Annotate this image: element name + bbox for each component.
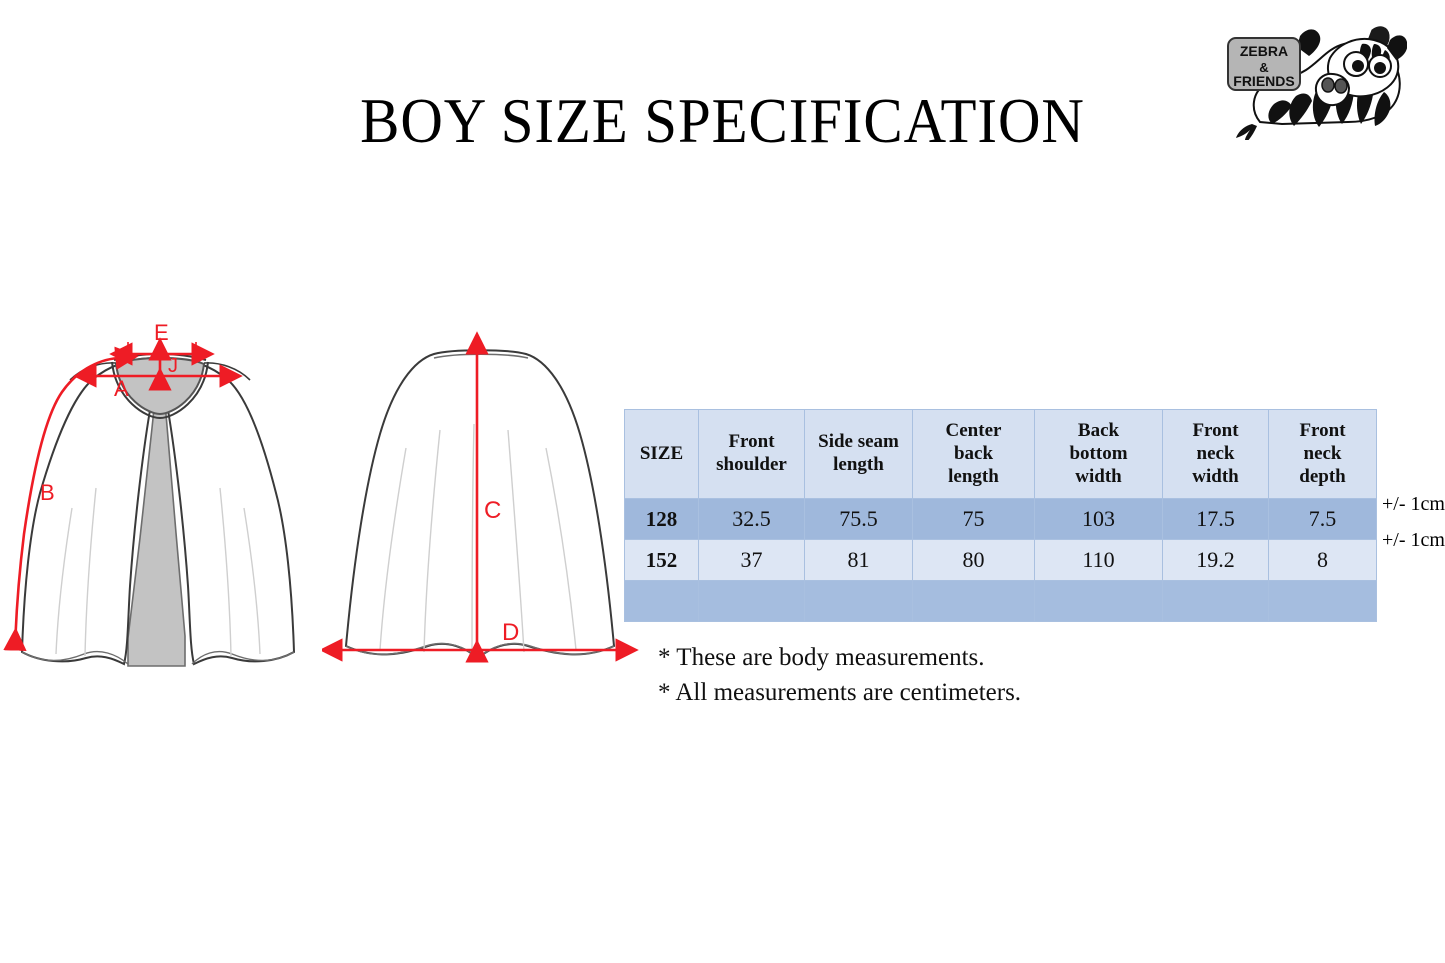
tolerance-label-128: +/- 1cm: [1382, 493, 1445, 516]
size-specification-table: SIZE Front shoulder Side seam length Cen…: [624, 409, 1376, 622]
cell-front-shoulder: 32.5: [699, 499, 805, 540]
dimension-label-E: E: [154, 320, 169, 345]
size-table: SIZE Front shoulder Side seam length Cen…: [624, 409, 1377, 622]
zebra-logo-artwork: ZEBRA & FRIENDS: [1222, 12, 1407, 140]
cell-front-neck-depth: 8: [1269, 540, 1377, 581]
zebra-and-friends-logo: ZEBRA & FRIENDS: [1222, 12, 1407, 140]
front-shoulder-line2: shoulder: [716, 454, 787, 475]
column-header-center-back-length: Center back length: [913, 410, 1035, 499]
dimension-label-J: J: [168, 355, 178, 377]
center-back-line2: back: [954, 443, 993, 464]
column-header-front-neck-depth: Front neck depth: [1269, 410, 1377, 499]
cell-front-neck-depth: [1269, 581, 1377, 622]
column-header-front-shoulder: Front shoulder: [699, 410, 805, 499]
note-line-2: * All measurements are centimeters.: [658, 675, 1021, 710]
cape-back-artwork: C D: [322, 328, 642, 678]
cell-back-bottom-width: 110: [1035, 540, 1163, 581]
column-header-front-neck-width: Front neck width: [1163, 410, 1269, 499]
cell-front-neck-width: [1163, 581, 1269, 622]
cell-back-bottom-width: 103: [1035, 499, 1163, 540]
back-bottom-line1: Back: [1078, 420, 1119, 441]
front-neck-width-line1: Front: [1192, 420, 1238, 441]
center-back-line3: length: [948, 466, 999, 487]
logo-plaque-line3: FRIENDS: [1233, 73, 1294, 89]
cell-size: 128: [625, 499, 699, 540]
cell-side-seam-length: 81: [805, 540, 913, 581]
front-neck-depth-line2: neck: [1304, 443, 1342, 464]
side-seam-line1: Side seam: [818, 431, 899, 452]
cell-front-neck-width: 17.5: [1163, 499, 1269, 540]
cape-back-view: C D: [322, 328, 642, 678]
cell-front-neck-width: 19.2: [1163, 540, 1269, 581]
cell-center-back-length: [913, 581, 1035, 622]
back-bottom-line3: width: [1075, 466, 1121, 487]
center-back-line1: Center: [946, 420, 1002, 441]
tolerance-label-152: +/- 1cm: [1382, 529, 1445, 552]
cell-front-shoulder: 37: [699, 540, 805, 581]
column-header-side-seam-length: Side seam length: [805, 410, 913, 499]
back-bottom-line2: bottom: [1069, 443, 1127, 464]
table-row: 128 32.5 75.5 75 103 17.5 7.5: [625, 499, 1377, 540]
dimension-label-D: D: [502, 619, 519, 646]
side-seam-line2: length: [833, 454, 884, 475]
cell-front-shoulder: [699, 581, 805, 622]
column-header-back-bottom-width: Back bottom width: [1035, 410, 1163, 499]
front-neck-width-line2: neck: [1197, 443, 1235, 464]
table-row-empty: [625, 581, 1377, 622]
cell-side-seam-length: [805, 581, 913, 622]
cape-back-panel: [346, 350, 614, 658]
page-title: BOY SIZE SPECIFICATION: [58, 86, 1387, 156]
logo-plaque-line1: ZEBRA: [1240, 43, 1288, 59]
front-neck-depth-line1: Front: [1299, 420, 1345, 441]
dimension-label-B: B: [40, 480, 55, 505]
cell-center-back-length: 80: [913, 540, 1035, 581]
cape-front-view: B E A J: [0, 318, 330, 693]
cell-front-neck-depth: 7.5: [1269, 499, 1377, 540]
front-neck-depth-line3: depth: [1299, 466, 1345, 487]
dimension-label-C: C: [484, 497, 501, 524]
front-neck-width-line3: width: [1192, 466, 1238, 487]
cell-side-seam-length: 75.5: [805, 499, 913, 540]
column-header-size: SIZE: [625, 410, 699, 499]
note-line-1: * These are body measurements.: [658, 640, 1021, 675]
table-header-row: SIZE Front shoulder Side seam length Cen…: [625, 410, 1377, 499]
logo-plaque: ZEBRA & FRIENDS: [1228, 38, 1300, 90]
column-header-size-line1: SIZE: [640, 443, 683, 464]
table-row: 152 37 81 80 110 19.2 8: [625, 540, 1377, 581]
measurement-notes: * These are body measurements. * All mea…: [658, 640, 1021, 710]
cell-center-back-length: 75: [913, 499, 1035, 540]
dimension-label-A: A: [114, 376, 129, 401]
cell-size: [625, 581, 699, 622]
cell-size: 152: [625, 540, 699, 581]
cell-back-bottom-width: [1035, 581, 1163, 622]
front-shoulder-line1: Front: [728, 431, 774, 452]
cape-front-artwork: B E A J: [0, 318, 330, 693]
